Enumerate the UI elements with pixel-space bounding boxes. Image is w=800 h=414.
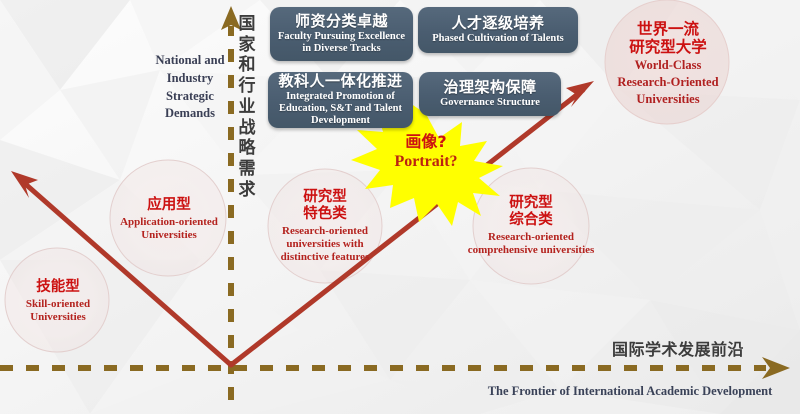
starburst-label[interactable]: 画像? Portrait? — [356, 133, 496, 170]
strategy-box-integration[interactable]: 教科人一体化推进 Integrated Promotion of Educati… — [268, 72, 413, 128]
strategy-box-talents-cn: 人才逐级培养 — [451, 15, 544, 32]
y-axis-label-cn: 国家和行业战略需求 — [234, 14, 260, 201]
goal-en-line3: Universities — [636, 92, 699, 107]
type-skill-oriented-cn: 技能型 — [36, 279, 80, 296]
type-application-oriented[interactable]: 应用型 Application-oriented Universities — [108, 190, 230, 248]
type-research-distinctive[interactable]: 研究型 特色类 Research-oriented universities w… — [263, 178, 387, 274]
goal-en-line2: Research-Oriented — [617, 75, 718, 90]
strategy-box-integration-cn: 教科人一体化推进 — [278, 73, 402, 90]
strategy-box-governance-en: Governance Structure — [440, 97, 540, 109]
strategy-box-talents[interactable]: 人才逐级培养 Phased Cultivation of Talents — [418, 7, 578, 53]
starburst-en: Portrait? — [356, 153, 496, 171]
x-axis — [0, 357, 790, 379]
type-research-comprehensive-en: Research-oriented comprehensive universi… — [455, 231, 607, 257]
type-application-oriented-en: Application-oriented Universities — [108, 216, 230, 242]
diagram-canvas: 国家和行业战略需求 National and Industry Strategi… — [0, 0, 800, 414]
type-application-oriented-cn: 应用型 — [147, 197, 191, 214]
y-axis-label-en: National and Industry Strategic Demands — [152, 52, 228, 123]
type-research-comprehensive-cn2: 综合类 — [509, 212, 553, 229]
type-research-comprehensive[interactable]: 研究型 综合类 Research-oriented comprehensive … — [455, 178, 607, 274]
type-research-comprehensive-cn1: 研究型 — [509, 195, 553, 212]
goal-cn-line1: 世界一流 — [637, 20, 699, 38]
type-research-distinctive-en: Research-oriented universities with dist… — [263, 225, 387, 264]
strategy-box-talents-en: Phased Cultivation of Talents — [432, 33, 564, 45]
type-skill-oriented-en: Skill-oriented Universities — [5, 298, 111, 324]
strategy-box-faculty-cn: 师资分类卓越 — [295, 13, 388, 30]
goal-cn-line2: 研究型大学 — [629, 38, 707, 56]
strategy-box-faculty[interactable]: 师资分类卓越 Faculty Pursuing Excellence in Di… — [270, 7, 413, 61]
goal-en-line1: World-Class — [635, 58, 702, 73]
strategy-box-faculty-en: Faculty Pursuing Excellence in Diverse T… — [276, 31, 407, 55]
type-skill-oriented[interactable]: 技能型 Skill-oriented Universities — [5, 273, 111, 329]
x-axis-label-cn: 国际学术发展前沿 — [612, 336, 744, 360]
starburst-cn: 画像? — [405, 132, 446, 151]
x-axis-label-en: The Frontier of International Academic D… — [470, 384, 790, 399]
strategy-box-governance[interactable]: 治理架构保障 Governance Structure — [419, 72, 561, 116]
strategy-box-governance-cn: 治理架构保障 — [443, 79, 536, 96]
type-research-distinctive-cn2: 特色类 — [303, 206, 347, 223]
strategy-box-integration-en: Integrated Promotion of Education, S&T a… — [274, 91, 407, 127]
type-research-distinctive-cn1: 研究型 — [303, 189, 347, 206]
goal-label[interactable]: 世界一流 研究型大学 World-Class Research-Oriented… — [605, 8, 731, 118]
